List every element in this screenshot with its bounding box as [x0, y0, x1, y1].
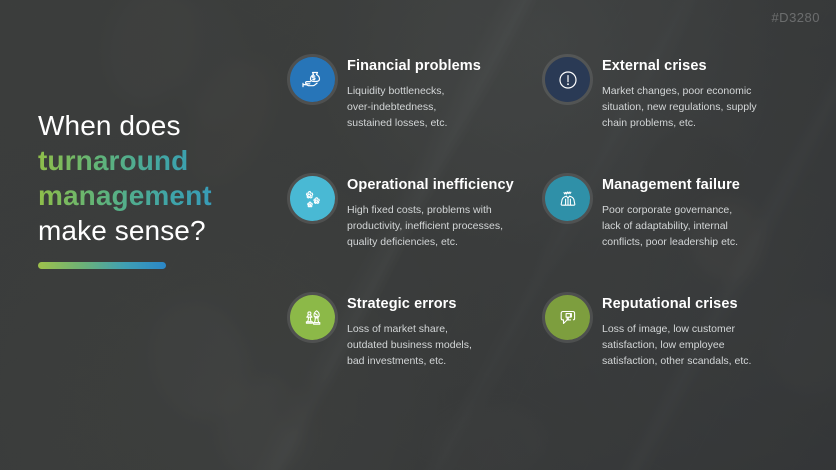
feature-item-strategic-errors[interactable]: Strategic errors Loss of market share, o…	[290, 294, 545, 369]
title-line-4: make sense?	[38, 213, 278, 248]
feature-desc-line: situation, new regulations, supply	[602, 99, 757, 115]
feature-description: Market changes, poor economic situation,…	[602, 83, 757, 131]
feature-text: Reputational crises Loss of image, low c…	[602, 294, 751, 369]
features-row: Financial problems Liquidity bottlenecks…	[290, 56, 818, 131]
feature-item-reputational-crises[interactable]: Reputational crises Loss of image, low c…	[545, 294, 818, 369]
feature-text: Strategic errors Loss of market share, o…	[347, 294, 472, 369]
watermark-label: #D3280	[771, 10, 820, 25]
feature-desc-line: satisfaction, other scandals, etc.	[602, 353, 751, 369]
feature-desc-line: satisfaction, low employee	[602, 337, 751, 353]
feature-desc-line: High fixed costs, problems with	[347, 202, 514, 218]
feature-title: Strategic errors	[347, 296, 472, 313]
businessman-crown-icon	[545, 176, 590, 221]
title-line-2-accent: turnaround	[38, 143, 278, 178]
title-line-3-accent: management	[38, 178, 278, 213]
title-line-1: When does	[38, 108, 278, 143]
feature-title: Management failure	[602, 177, 740, 194]
feature-text: Management failure Poor corporate govern…	[602, 175, 740, 250]
feature-desc-line: bad investments, etc.	[347, 353, 472, 369]
feature-description: Loss of market share, outdated business …	[347, 321, 472, 369]
feature-title: Financial problems	[347, 58, 481, 75]
feature-description: High fixed costs, problems with producti…	[347, 202, 514, 250]
feature-desc-line: Loss of image, low customer	[602, 321, 751, 337]
feature-desc-line: Poor corporate governance,	[602, 202, 740, 218]
features-row: Strategic errors Loss of market share, o…	[290, 294, 818, 369]
feature-desc-line: Loss of market share,	[347, 321, 472, 337]
title-accent-bar	[38, 262, 166, 269]
feature-desc-line: quality deficiencies, etc.	[347, 234, 514, 250]
feature-desc-line: Market changes, poor economic	[602, 83, 757, 99]
feature-desc-line: Liquidity bottlenecks,	[347, 83, 481, 99]
speech-bubble-thumbs-down-icon	[545, 295, 590, 340]
features-grid: Financial problems Liquidity bottlenecks…	[290, 56, 818, 369]
feature-desc-line: chain problems, etc.	[602, 115, 757, 131]
feature-desc-line: over-indebtedness,	[347, 99, 481, 115]
feature-item-operational-inefficiency[interactable]: Operational inefficiency High fixed cost…	[290, 175, 545, 250]
chess-pieces-icon	[290, 295, 335, 340]
slide-canvas: #D3280 When does turnaround management m…	[0, 0, 836, 470]
features-row: Operational inefficiency High fixed cost…	[290, 175, 818, 250]
feature-title: External crises	[602, 58, 757, 75]
feature-desc-line: sustained losses, etc.	[347, 115, 481, 131]
feature-description: Loss of image, low customer satisfaction…	[602, 321, 751, 369]
feature-desc-line: lack of adaptability, internal	[602, 218, 740, 234]
feature-item-management-failure[interactable]: Management failure Poor corporate govern…	[545, 175, 818, 250]
feature-title: Operational inefficiency	[347, 177, 514, 194]
page-title: When does turnaround management make sen…	[38, 108, 278, 248]
feature-description: Liquidity bottlenecks, over-indebtedness…	[347, 83, 481, 131]
gears-icon	[290, 176, 335, 221]
feature-text: External crises Market changes, poor eco…	[602, 56, 757, 131]
feature-item-financial-problems[interactable]: Financial problems Liquidity bottlenecks…	[290, 56, 545, 131]
feature-text: Operational inefficiency High fixed cost…	[347, 175, 514, 250]
feature-title: Reputational crises	[602, 296, 751, 313]
feature-text: Financial problems Liquidity bottlenecks…	[347, 56, 481, 131]
feature-desc-line: outdated business models,	[347, 337, 472, 353]
money-bag-in-hand-icon	[290, 57, 335, 102]
feature-description: Poor corporate governance, lack of adapt…	[602, 202, 740, 250]
feature-desc-line: productivity, inefficient processes,	[347, 218, 514, 234]
feature-desc-line: conflicts, poor leadership etc.	[602, 234, 740, 250]
feature-item-external-crises[interactable]: External crises Market changes, poor eco…	[545, 56, 818, 131]
exclamation-circle-icon	[545, 57, 590, 102]
